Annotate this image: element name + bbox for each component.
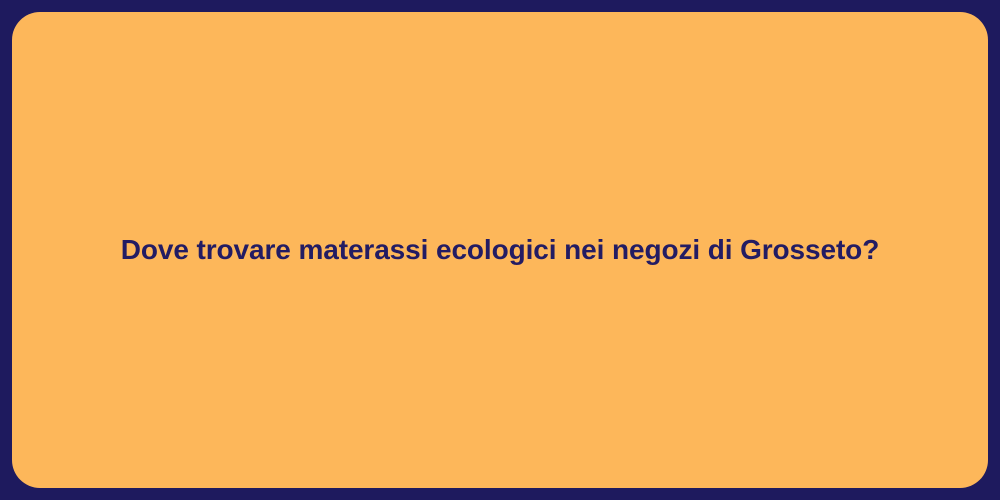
card-content: Dove trovare materassi ecologici nei neg… [12,232,988,268]
page-background: Dove trovare materassi ecologici nei neg… [0,0,1000,500]
page-title: Dove trovare materassi ecologici nei neg… [72,232,928,268]
question-card: Dove trovare materassi ecologici nei neg… [12,12,988,488]
